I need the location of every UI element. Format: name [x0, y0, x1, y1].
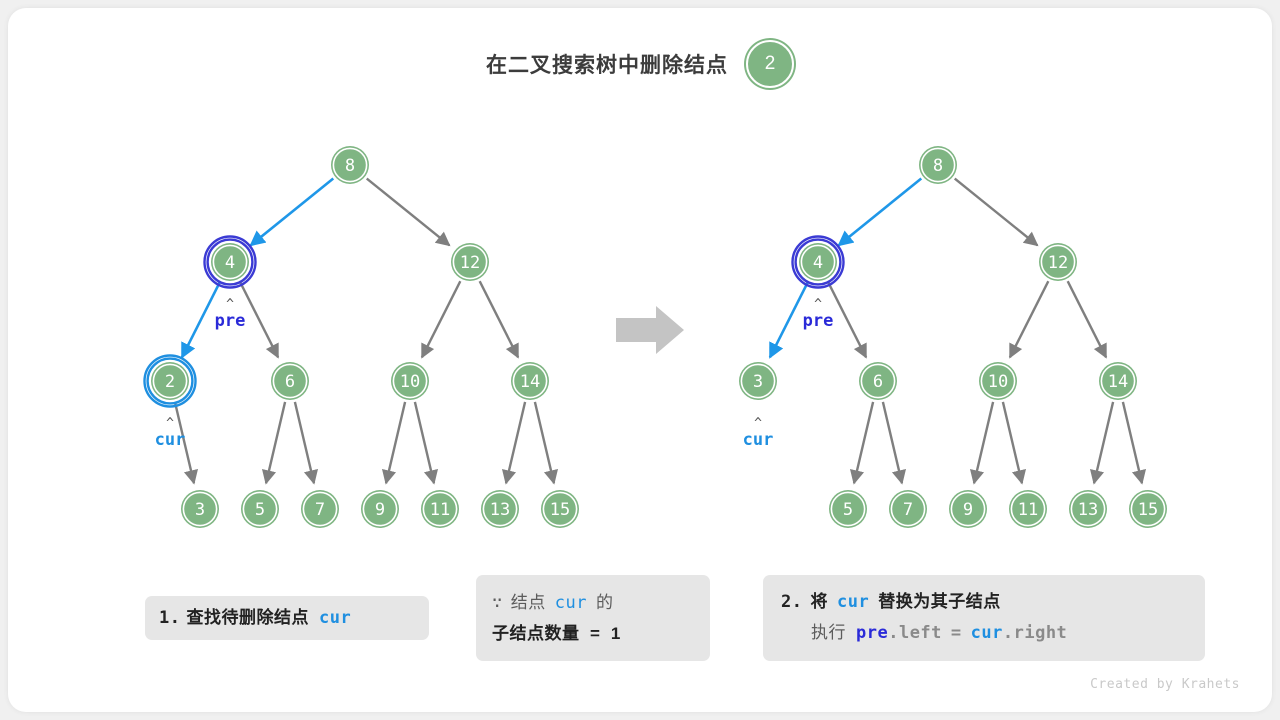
tree-node-13: 13 [481, 490, 519, 528]
tree-edge [367, 179, 450, 246]
caption-reason-var: cur [546, 593, 587, 613]
node-label-6: 6 [873, 372, 883, 392]
tree-edge [266, 402, 285, 483]
pointer-caret-pre: ^ [814, 297, 822, 312]
tree-node-11: 11 [1009, 490, 1047, 528]
node-label-12: 12 [1048, 253, 1068, 273]
pointer-cur: ^cur [743, 416, 774, 450]
tree-node-11: 11 [421, 490, 459, 528]
pointer-label-pre: pre [215, 311, 246, 331]
tree-node-9: 9 [949, 490, 987, 528]
caption-step-2-pre-field: .left [888, 623, 942, 643]
node-label-10: 10 [400, 372, 420, 392]
tree-node-5: 5 [829, 490, 867, 528]
tree-edge [1010, 281, 1048, 357]
caption-step-2-a: 将 [802, 592, 828, 611]
node-label-14: 14 [520, 372, 540, 392]
tree-node-14: 14 [1099, 362, 1137, 400]
caption-step-2-cur-field: .right [1003, 623, 1067, 643]
pointer-label-cur: cur [155, 430, 186, 450]
tree-edge [1123, 402, 1142, 483]
tree-edge [251, 179, 334, 246]
tree-node-12: 12 [1039, 243, 1077, 281]
tree-node-12: 12 [451, 243, 489, 281]
nodes-before-tree: 84122610143579111315 [145, 146, 580, 528]
node-label-8: 8 [933, 156, 943, 176]
tree-node-4: 4 [793, 237, 844, 288]
tree-node-13: 13 [1069, 490, 1107, 528]
node-label-4: 4 [813, 253, 823, 273]
caption-step-2-line-1: 2.将cur替换为其子结点 [781, 587, 1187, 618]
caption-step-2-cur: cur [971, 623, 1003, 643]
node-label-7: 7 [315, 500, 325, 520]
caption-step-1-index: 1. [159, 608, 180, 628]
tree-node-6: 6 [859, 362, 897, 400]
pointer-pre: ^pre [803, 297, 834, 331]
pointer-pre: ^pre [215, 297, 246, 331]
caption-step-2: 2.将cur替换为其子结点 执行pre.left=cur.right [763, 575, 1205, 661]
pointer-cur: ^cur [155, 416, 186, 450]
tree-node-15: 15 [1129, 490, 1167, 528]
tree-node-7: 7 [889, 490, 927, 528]
node-label-6: 6 [285, 372, 295, 392]
caption-step-2-var: cur [828, 592, 869, 612]
footer-credit: Created by Krahets [1090, 677, 1240, 692]
tree-node-9: 9 [361, 490, 399, 528]
node-label-11: 11 [430, 500, 450, 520]
tree-edge [295, 402, 314, 483]
tree-edge [883, 402, 902, 483]
right-arrow-icon [616, 306, 684, 354]
tree-edge [1068, 281, 1106, 357]
diagram-card: 在二叉搜索树中删除结点 2 84122610143579111315 84123… [8, 8, 1272, 712]
node-label-9: 9 [375, 500, 385, 520]
tree-edge [828, 281, 866, 357]
tree-edge [240, 281, 278, 357]
because-symbol: ∵ [492, 593, 503, 613]
tree-node-7: 7 [301, 490, 339, 528]
tree-edge [535, 402, 554, 483]
tree-node-14: 14 [511, 362, 549, 400]
node-label-4: 4 [225, 253, 235, 273]
caption-reason-line-2: 子结点数量 = 1 [492, 619, 694, 649]
tree-edge [1094, 402, 1113, 483]
caption-reason: ∵结点cur的 子结点数量 = 1 [476, 575, 710, 661]
pointer-caret-pre: ^ [226, 297, 234, 312]
tree-node-15: 15 [541, 490, 579, 528]
node-label-10: 10 [988, 372, 1008, 392]
caption-step-2-line-2: 执行pre.left=cur.right [781, 618, 1187, 649]
caption-step-1: 1.查找待删除结点cur [145, 596, 429, 640]
node-label-8: 8 [345, 156, 355, 176]
caption-step-1-var: cur [309, 608, 351, 628]
nodes-after-tree: 8412361014579111315 [739, 146, 1167, 528]
caption-step-2-exec: 执行 [811, 623, 846, 642]
tree-node-8: 8 [331, 146, 369, 184]
tree-edge [839, 179, 922, 246]
tree-edge [386, 402, 405, 483]
tree-edge [415, 402, 434, 483]
caption-step-1-text: 查找待删除结点 [180, 608, 309, 627]
tree-edge [955, 179, 1038, 246]
node-label-7: 7 [903, 500, 913, 520]
tree-edge [506, 402, 525, 483]
tree-edge [422, 281, 460, 357]
pointer-caret-cur: ^ [166, 416, 174, 431]
caption-step-2-pre: pre [846, 623, 888, 643]
caption-reason-line-1: ∵结点cur的 [492, 588, 694, 619]
caption-reason-a: 结点 [503, 593, 546, 612]
node-label-11: 11 [1018, 500, 1038, 520]
node-label-14: 14 [1108, 372, 1128, 392]
tree-node-3: 3 [739, 362, 777, 400]
tree-node-8: 8 [919, 146, 957, 184]
tree-edge [974, 402, 993, 483]
tree-node-4: 4 [205, 237, 256, 288]
tree-node-5: 5 [241, 490, 279, 528]
pointer-label-cur: cur [743, 430, 774, 450]
node-label-2: 2 [165, 372, 175, 392]
caption-step-2-b: 替换为其子结点 [869, 592, 1001, 611]
caption-step-2-eq: = [942, 623, 971, 643]
tree-node-10: 10 [391, 362, 429, 400]
tree-node-10: 10 [979, 362, 1017, 400]
tree-node-3: 3 [181, 490, 219, 528]
tree-node-6: 6 [271, 362, 309, 400]
caption-reason-b: 的 [587, 593, 614, 612]
node-label-15: 15 [550, 500, 570, 520]
pointer-caret-cur: ^ [754, 416, 762, 431]
node-label-5: 5 [843, 500, 853, 520]
node-label-3: 3 [195, 500, 205, 520]
caption-step-2-index: 2. [781, 592, 802, 612]
node-label-15: 15 [1138, 500, 1158, 520]
tree-edge [854, 402, 873, 483]
tree-edge [1003, 402, 1022, 483]
caption-step-1-line: 1.查找待删除结点cur [159, 603, 415, 634]
node-label-5: 5 [255, 500, 265, 520]
node-label-3: 3 [753, 372, 763, 392]
node-label-13: 13 [1078, 500, 1098, 520]
pointer-label-pre: pre [803, 311, 834, 331]
node-label-13: 13 [490, 500, 510, 520]
node-label-9: 9 [963, 500, 973, 520]
tree-edge [480, 281, 518, 357]
node-label-12: 12 [460, 253, 480, 273]
tree-node-2: 2 [145, 356, 196, 407]
